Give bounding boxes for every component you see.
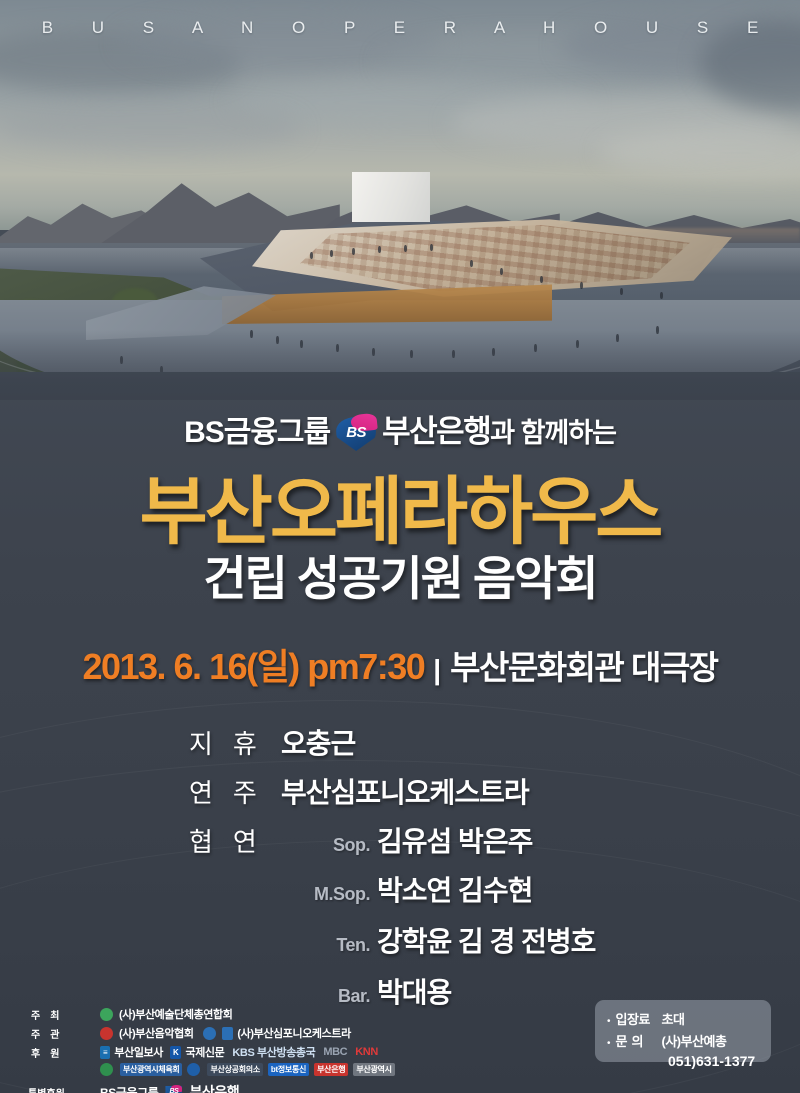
crowd-figure bbox=[580, 282, 583, 289]
bullet-icon: • bbox=[607, 1039, 611, 1049]
credit-label: 협연 bbox=[185, 822, 281, 859]
bs-bank-logo-icon: BS bbox=[336, 415, 376, 451]
special-sponsor-label: 특별후원 bbox=[28, 1085, 100, 1093]
footer-sponsors: 주최 (사)부산예술단체총연합회 주관 (사)부산음악협회 (사)부산심포니오케… bbox=[28, 1006, 548, 1093]
credit-value: 부산심포니오케스트라 bbox=[281, 771, 529, 811]
support-org-1: 부산일보사 bbox=[114, 1044, 163, 1060]
crowd-figure bbox=[620, 288, 623, 295]
secondary-logo-2: 부산상공회의소 bbox=[207, 1063, 262, 1076]
event-time: pm7:30 bbox=[299, 646, 425, 687]
support-org-4: MBC bbox=[323, 1046, 347, 1058]
support-org-2: 국제신문 bbox=[185, 1044, 224, 1060]
credit-label: 지휴 bbox=[185, 724, 281, 761]
organizer-org2-chip bbox=[222, 1027, 234, 1040]
admission-value: 초대 bbox=[662, 1009, 685, 1028]
secondary-logo-2-icon bbox=[187, 1063, 200, 1076]
crowd-figure bbox=[378, 246, 381, 253]
special-sponsor-group: BS금융그룹 bbox=[100, 1084, 158, 1093]
secondary-logo-1: 부산광역시체육회 bbox=[120, 1063, 182, 1076]
kookje-logo-icon: K bbox=[170, 1046, 181, 1059]
crowd-figure bbox=[540, 276, 543, 283]
credit-row-tenor: Ten. 강학윤 김 경 전병호 bbox=[185, 920, 655, 960]
organizer-org-name: (사)부산음악협회 bbox=[119, 1025, 194, 1041]
bs-mini-logo-text: BS bbox=[165, 1088, 182, 1093]
footer-row-orgs: (사)부산음악협회 (사)부산심포니오케스트라 bbox=[100, 1025, 351, 1041]
crowd-figure bbox=[430, 244, 433, 251]
contact-value: (사)부산예총 bbox=[662, 1031, 727, 1050]
credit-part: Sop. bbox=[281, 835, 377, 856]
support-org-5: KNN bbox=[355, 1046, 378, 1058]
hero-architectural-render bbox=[0, 0, 800, 400]
credit-row-mezzo-soprano: M.Sop. 박소연 김수현 bbox=[185, 869, 655, 909]
footer-row-orgs: (사)부산예술단체총연합회 bbox=[100, 1006, 232, 1022]
footer-secondary-logos: 부산광역시체육회 부산상공회의소 bt정보통신 부산은행 부산광역시 bbox=[28, 1063, 548, 1076]
event-year: 2013. bbox=[82, 646, 173, 687]
event-weekday: (일) bbox=[246, 646, 299, 687]
credit-value: 오충근 bbox=[281, 722, 355, 762]
bullet-icon: • bbox=[607, 1017, 611, 1027]
secondary-logo-5: 부산광역시 bbox=[353, 1063, 394, 1076]
organizer-org2-name: (사)부산심포니오케스트라 bbox=[237, 1025, 350, 1041]
contact-label: 문의 bbox=[616, 1031, 662, 1050]
credit-part: M.Sop. bbox=[281, 884, 377, 905]
performer-credits: 지휴 오충근 연주 부산심포니오케스트라 협연 Sop. 김유섬 박은주 M.S… bbox=[185, 722, 655, 1022]
footer-row-special-sponsor: 특별후원 BS금융그룹 BS 부산은행 bbox=[28, 1082, 548, 1093]
page-title: B U S A N O P E R A H O U S E bbox=[0, 18, 800, 38]
info-row-contact: • 문의 (사)부산예총 bbox=[607, 1031, 771, 1050]
credit-row-soprano: 협연 Sop. 김유섬 박은주 bbox=[185, 820, 655, 860]
credit-row-baritone: Bar. 박대용 bbox=[185, 971, 655, 1011]
credit-value: 강학윤 김 경 전병호 bbox=[377, 920, 595, 960]
credit-row-conductor: 지휴 오충근 bbox=[185, 722, 655, 762]
crowd-figure bbox=[470, 260, 473, 267]
footer-row-host: 주최 (사)부산예술단체총연합회 bbox=[28, 1006, 548, 1022]
render-fade-overlay bbox=[0, 330, 800, 400]
busan-bank-label: 부산은행 bbox=[382, 414, 490, 449]
credit-part: Bar. bbox=[281, 986, 377, 1007]
event-venue: 부산문화회관 대극장 bbox=[450, 649, 717, 686]
presented-with-label: 과 함께하는 bbox=[490, 418, 616, 448]
credit-label: 연주 bbox=[185, 773, 281, 810]
footer-row-support: 후원 ≡ 부산일보사 K 국제신문 KBS 부산방송총국 MBC KNN bbox=[28, 1044, 548, 1060]
info-row-phone: 051)631-1377 bbox=[607, 1053, 771, 1069]
crowd-figure bbox=[352, 248, 355, 255]
info-box: • 입장료 초대 • 문의 (사)부산예총 051)631-1377 bbox=[595, 1000, 771, 1062]
crowd-figure bbox=[310, 252, 313, 259]
credit-value: 김유섬 박은주 bbox=[377, 820, 532, 860]
special-sponsor-bank: 부산은행 bbox=[189, 1082, 239, 1093]
credit-value: 박소연 김수현 bbox=[377, 869, 532, 909]
support-org-3: KBS 부산방송총국 bbox=[232, 1044, 315, 1060]
credit-row-orchestra: 연주 부산심포니오케스트라 bbox=[185, 771, 655, 811]
presenting-sponsor-line: BS금융그룹BS부산은행과 함께하는 bbox=[0, 406, 800, 451]
fly-tower bbox=[352, 172, 430, 222]
crowd-figure bbox=[330, 250, 333, 257]
crowd-figure bbox=[500, 268, 503, 275]
secondary-logo-3: bt정보통신 bbox=[268, 1063, 309, 1076]
crowd-figure bbox=[660, 292, 663, 299]
crowd-figure bbox=[404, 245, 407, 252]
poster-root: B U S A N O P E R A H O U S E BS금융그룹BS부산… bbox=[0, 0, 800, 1093]
footer-row-label: 주최 bbox=[28, 1007, 100, 1022]
footer-row-label: 주관 bbox=[28, 1026, 100, 1041]
credit-part: Ten. bbox=[281, 935, 377, 956]
special-sponsor-orgs: BS금융그룹 BS 부산은행 bbox=[100, 1082, 239, 1093]
busan-ilbo-logo-icon: ≡ bbox=[100, 1046, 110, 1059]
info-row-admission: • 입장료 초대 bbox=[607, 1009, 771, 1028]
host-org-name: (사)부산예술단체총연합회 bbox=[119, 1006, 232, 1022]
secondary-logo-4: 부산은행 bbox=[314, 1063, 348, 1076]
footer-row-orgs: ≡ 부산일보사 K 국제신문 KBS 부산방송총국 MBC KNN bbox=[100, 1044, 378, 1060]
bs-bank-mini-logo-icon: BS bbox=[165, 1085, 182, 1093]
contact-phone: 051)631-1377 bbox=[668, 1053, 755, 1069]
bs-financial-group-label: BS금융그룹 bbox=[184, 416, 330, 449]
organizer-org2-logo-icon bbox=[203, 1027, 216, 1040]
event-day: 16 bbox=[209, 646, 246, 687]
admission-label: 입장료 bbox=[616, 1009, 662, 1028]
datetime-venue-separator: | bbox=[433, 654, 441, 685]
host-org-logo-icon bbox=[100, 1008, 113, 1021]
credit-value: 박대용 bbox=[377, 971, 451, 1011]
event-datetime-venue: 2013. 6. 16(일) pm7:30|부산문화회관 대극장 bbox=[0, 638, 800, 690]
organizer-org-logo-icon bbox=[100, 1027, 113, 1040]
secondary-logo-1-icon bbox=[100, 1063, 113, 1076]
footer-row-label: 후원 bbox=[28, 1045, 100, 1060]
event-month: 6. bbox=[174, 646, 210, 687]
bs-logo-text: BS bbox=[336, 424, 376, 441]
footer-row-organizer: 주관 (사)부산음악협회 (사)부산심포니오케스트라 bbox=[28, 1025, 548, 1041]
sub-title: 건립 성공기원 음악회 bbox=[0, 540, 800, 609]
